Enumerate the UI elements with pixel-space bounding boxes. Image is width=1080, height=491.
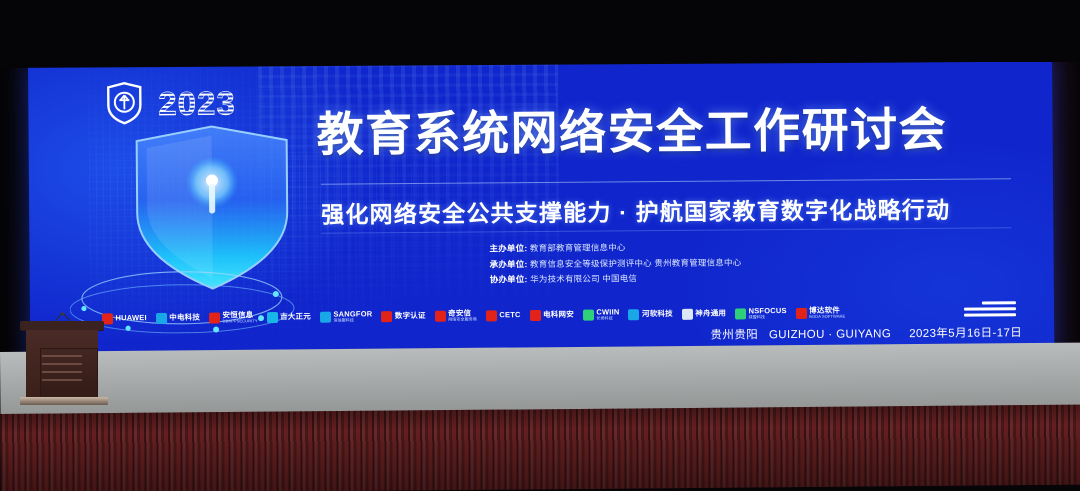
event-subtitle: 强化网络安全公共支撑能力 · 护航国家教育数字化战略行动	[321, 190, 1021, 229]
sponsor-logo-name: HUAWEI	[116, 314, 147, 322]
organizer-value: 教育信息安全等级保护测评中心 贵州教育管理信息中心	[530, 257, 741, 269]
organizer-row: 协办单位: 华为技术有限公司 中国电信	[490, 271, 742, 289]
shield-emblem-icon	[104, 81, 144, 125]
sponsor-logo-name: 电科网安	[543, 311, 574, 319]
sponsor-logo-mark	[435, 310, 446, 321]
sponsor-logo: 吉大正元	[267, 309, 311, 325]
event-title: 教育系统网络安全工作研讨会	[316, 105, 1016, 159]
decorative-stripes	[964, 301, 1016, 319]
organizer-value: 华为技术有限公司 中国电信	[530, 274, 637, 285]
sponsor-logo-mark	[486, 310, 497, 321]
organizer-label: 主办单位:	[489, 243, 527, 253]
sponsor-logo-name: 吉大正元	[280, 313, 311, 321]
sponsor-logo-mark	[682, 308, 693, 319]
sponsor-logo-mark	[209, 312, 220, 323]
podium-base	[20, 397, 108, 405]
sponsor-logo-subtitle: 网络安全服务商	[448, 317, 477, 321]
event-dates: 2023年5月16日-17日	[909, 327, 1022, 340]
sponsor-logo-name: 神舟通用	[695, 310, 726, 318]
sponsor-logo-mark	[156, 312, 167, 323]
sponsor-logo-name: 中电科技	[169, 314, 200, 322]
sponsor-logo: 电科网安	[530, 307, 574, 323]
sponsor-logo: 博达软件BODA SOFTWARE	[796, 305, 846, 321]
sponsor-logo: 中电科技	[156, 310, 200, 326]
sponsor-logo: SANGFOR深信服科技	[320, 308, 373, 324]
sponsor-logo-mark	[735, 308, 746, 319]
stage-skirt	[0, 405, 1080, 491]
sponsor-logo-mark	[381, 311, 392, 322]
led-screen: 2023	[28, 52, 1054, 365]
sponsor-logo-mark	[583, 309, 594, 320]
hall-ceiling	[0, 0, 1080, 62]
speaker-podium	[20, 321, 104, 407]
organizer-block: 主办单位: 教育部教育管理信息中心 承办单位: 教育信息安全等级保护测评中心 贵…	[489, 239, 741, 288]
sponsor-logo: CWIIN长扬科技	[583, 306, 620, 322]
sponsor-logo-mark	[267, 312, 278, 323]
sponsor-logo: 奇安信网络安全服务商	[435, 307, 477, 323]
sponsor-logo-name: 河软科技	[642, 310, 673, 318]
podium-slat	[42, 379, 82, 381]
sponsor-logo-strip: HUAWEI中电科技安恒信息DBAPPSECURITY吉大正元SANGFOR深信…	[102, 302, 742, 329]
podium-top	[20, 321, 104, 330]
sponsor-logo-name: CETC	[499, 311, 520, 319]
sponsor-logo-mark	[796, 307, 807, 318]
organizer-row: 承办单位: 教育信息安全等级保护测评中心 贵州教育管理信息中心	[490, 255, 742, 273]
sponsor-logo: 河软科技	[628, 306, 672, 322]
sponsor-logo-mark	[628, 309, 639, 320]
sponsor-logo: 神舟通用	[682, 306, 726, 322]
conference-stage-photo: 2023	[0, 0, 1080, 491]
sponsor-logo: 数字认证	[381, 308, 425, 324]
location-en: GUIZHOU · GUIYANG	[769, 328, 891, 341]
sponsor-logo: NSFOCUS绿盟科技	[735, 305, 787, 321]
event-location-date: 贵州贵阳 GUIZHOU · GUIYANG 2023年5月16日-17日	[710, 324, 1022, 342]
sponsor-logo: CETC	[486, 307, 521, 323]
sponsor-logo-mark	[530, 309, 541, 320]
sponsor-logo: 安恒信息DBAPPSECURITY	[209, 309, 258, 325]
podium-slat	[42, 355, 82, 357]
organizer-label: 协办单位:	[490, 275, 528, 285]
sponsor-logo-subtitle: 绿盟科技	[749, 315, 787, 319]
sponsor-logo-subtitle: DBAPPSECURITY	[223, 319, 258, 323]
location-cn: 贵州贵阳	[710, 329, 758, 341]
organizer-value: 教育部教育管理信息中心	[530, 242, 626, 253]
sponsor-logo: HUAWEI	[102, 310, 147, 326]
sponsor-logo-mark	[320, 311, 331, 322]
podium-slat	[42, 363, 82, 365]
organizer-label: 承办单位:	[490, 259, 528, 269]
sponsor-logo-name: 数字认证	[395, 312, 426, 320]
sponsor-logo-subtitle: BODA SOFTWARE	[809, 314, 845, 318]
sponsor-logo-subtitle: 深信服科技	[333, 318, 372, 322]
event-emblem: 2023	[104, 80, 236, 125]
event-year: 2023	[158, 86, 236, 120]
sponsor-logo-subtitle: 长扬科技	[596, 316, 619, 320]
podium-slat	[42, 371, 82, 373]
